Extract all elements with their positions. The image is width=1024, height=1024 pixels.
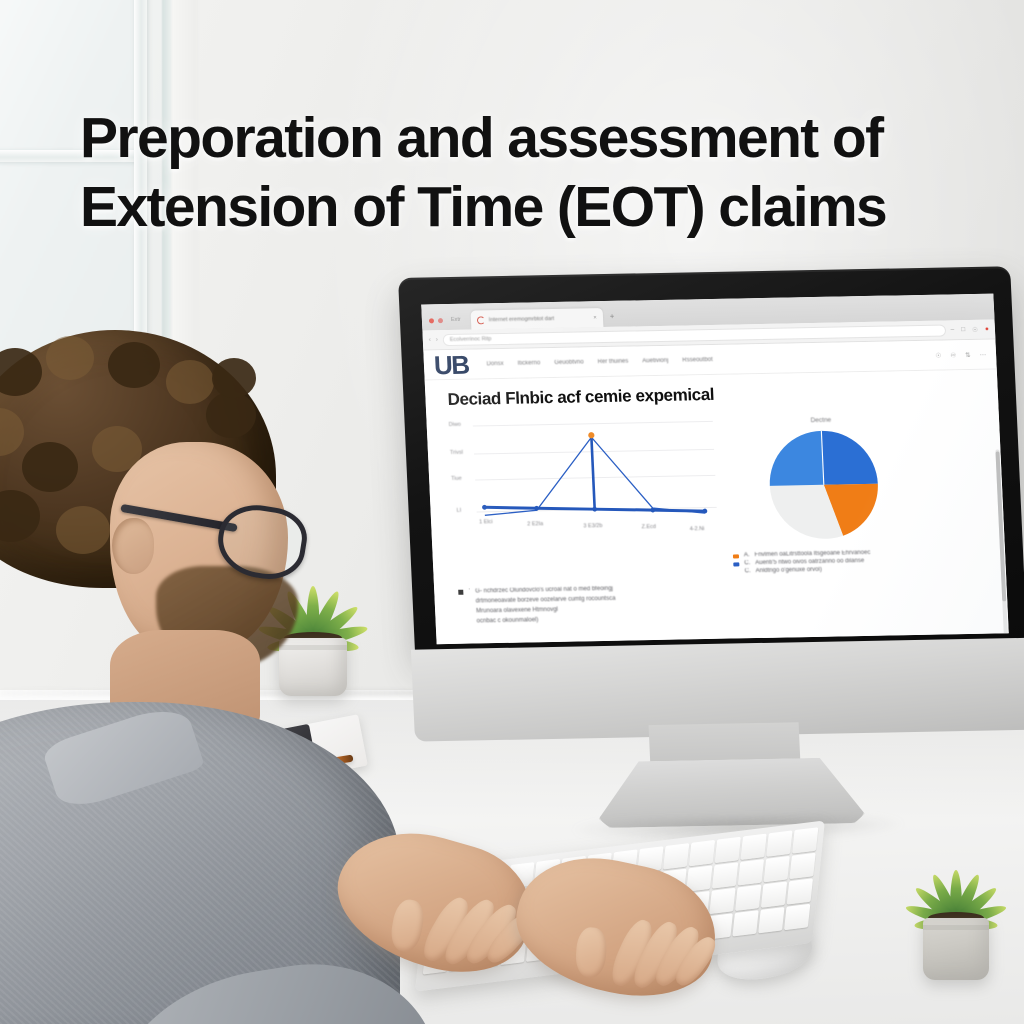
hair-curl	[166, 360, 214, 404]
highlight-data-point	[588, 432, 594, 438]
legend-swatch-orange	[733, 554, 739, 558]
nav-item-2[interactable]: Geuobtvno	[554, 359, 584, 366]
hair-curl	[22, 442, 78, 492]
new-tab-icon[interactable]: +	[610, 312, 615, 321]
pie-chart-plot	[763, 426, 884, 544]
headline: Preporation and assessment of Extension …	[80, 104, 960, 242]
key	[689, 840, 715, 866]
headline-line-1: Preporation and assessment of	[80, 106, 883, 170]
legend-text-2: Anldtrigo o'genuxe orvol)	[756, 567, 822, 574]
line-chart: Diwo Trivsl Tiue LI	[444, 415, 718, 542]
thumb	[388, 897, 427, 953]
site-toolbar-icons: ☉ ♾ ⇅ ⋯	[935, 350, 986, 359]
thumb	[574, 926, 607, 978]
headline-line-2: Extension of Time (EOT) claims	[80, 173, 960, 242]
page-content: Deciad Flnbic acf cemie expemical Diwo T…	[425, 369, 1009, 644]
hair-curl	[56, 506, 110, 554]
pot-rim	[923, 925, 989, 930]
site-nav: Donsx Itickerno Geuobtvno Rer thuines Au…	[486, 356, 712, 366]
scrollbar-thumb[interactable]	[995, 451, 1006, 601]
hair-curl	[108, 342, 160, 388]
key	[764, 856, 790, 882]
bullet-dot-icon: ·	[468, 587, 470, 593]
x-tick-3: Z.Ecd	[641, 524, 656, 530]
charts-row: Diwo Trivsl Tiue LI	[444, 410, 991, 582]
browser-window: Extr Internet eremogmrbtot dart × + ‹ ›	[421, 294, 1009, 645]
ear	[112, 518, 154, 574]
key	[663, 843, 689, 869]
more-options-icon[interactable]: ⋯	[979, 350, 986, 358]
workspace-scene: Extr Internet eremogmrbtot dart × + ‹ ›	[0, 0, 1024, 1024]
x-tick-0: 1 Elci	[479, 519, 493, 525]
key	[738, 859, 764, 885]
key	[784, 904, 810, 930]
y-tick-0: Diwo	[449, 422, 462, 428]
legend-text-1: Auenti'5 ntwo oivos oatrzanno oo dilanse	[755, 558, 864, 566]
x-tick-4: 4-2.Ni	[690, 526, 705, 532]
history-icon[interactable]: ☉	[935, 351, 941, 359]
minimize-window-dot[interactable]	[438, 318, 443, 323]
key	[787, 879, 813, 905]
nav-item-1[interactable]: Itickerno	[517, 360, 540, 366]
tab-close-icon[interactable]: ×	[593, 315, 597, 321]
key	[710, 888, 736, 914]
hair-curl	[206, 392, 256, 438]
page-title: Deciad Flnbic acf cemie expemical	[447, 380, 984, 410]
window-controls[interactable]	[429, 318, 443, 323]
monitor-screen: Extr Internet eremogmrbtot dart × + ‹ ›	[421, 294, 1009, 645]
bullet-line-3: ocnbac c okounmaloel)	[476, 614, 616, 627]
address-bar-value: Ecolverrinoc Ritp	[450, 336, 492, 343]
bullet-square-icon	[458, 590, 463, 595]
site-logo[interactable]: UB	[433, 351, 469, 378]
y-tick-2: Tiue	[451, 476, 462, 482]
legend-text-0: Fnvlmen oaLitrsttoola Itsgeoane Ehrvanoe…	[754, 550, 870, 558]
bullet-text: G- nchdrzec Olundovclo's ucroal nat o me…	[475, 585, 617, 627]
key	[761, 882, 787, 908]
x-tick-1: 2 E2Ia	[527, 521, 543, 527]
key	[712, 862, 738, 888]
x-tick-2: 3 E3/2b	[583, 523, 602, 529]
key	[715, 837, 741, 863]
forward-arrow-icon[interactable]: ›	[436, 337, 438, 343]
pie-chart-legend: A. Fnvlmen oaLitrsttoola Itsgeoane Ehrva…	[733, 549, 928, 575]
minimize-icon[interactable]: –	[950, 326, 954, 333]
close-window-dot[interactable]	[429, 318, 434, 323]
monitor: Extr Internet eremogmrbtot dart × + ‹ ›	[398, 266, 1024, 698]
nav-item-0[interactable]: Donsx	[486, 360, 503, 366]
browser-toolbar-right: – □ ☉ ●	[950, 325, 989, 334]
pie-slice-d	[767, 431, 823, 486]
key	[733, 911, 759, 937]
key	[735, 885, 761, 911]
peak-stem	[591, 437, 594, 509]
data-point-2	[592, 507, 597, 512]
pie-chart: Dectne	[721, 411, 928, 577]
pie-slice-a	[821, 430, 877, 485]
person-at-desk	[0, 330, 390, 1024]
legend-row: C. Anldtrigo o'genuxe orvol)	[734, 565, 928, 575]
line-chart-plot	[472, 415, 713, 523]
nav-item-5[interactable]: Rsseoutbot	[682, 356, 713, 363]
browser-tab-active[interactable]: Internet eremogmrbtot dart ×	[470, 308, 603, 330]
pie-chart-title: Dectne	[721, 415, 921, 426]
legend-key-1: C.	[744, 560, 750, 566]
tab-loading-spinner-icon	[477, 316, 485, 324]
sort-icon[interactable]: ⇅	[965, 350, 971, 358]
nav-item-4[interactable]: Auetiviorij	[642, 357, 668, 363]
data-point-0	[482, 505, 487, 510]
tab-title: Internet eremogmrbtot dart	[489, 315, 555, 322]
legend-key-0: A.	[744, 552, 750, 558]
hair-curl	[212, 358, 256, 398]
plant-pot-gray	[923, 918, 989, 980]
line-chart-x-axis: 1 Elci 2 E2Ia 3 E3/2b Z.Ecd 4-2.Ni	[477, 511, 718, 532]
legend-swatch-blue	[733, 562, 739, 566]
key	[741, 834, 767, 860]
key	[790, 853, 816, 879]
page-scrollbar[interactable]	[995, 449, 1008, 644]
alert-badge-icon[interactable]: ●	[985, 326, 989, 333]
key	[793, 827, 819, 853]
nav-item-3[interactable]: Rer thuines	[597, 358, 628, 365]
key	[767, 830, 793, 856]
bullet-note-block: · G- nchdrzec Olundovclo's ucroal nat o …	[458, 578, 994, 628]
y-tick-1: Trivsl	[450, 450, 463, 456]
monitor-bezel: Extr Internet eremogmrbtot dart × + ‹ ›	[398, 266, 1024, 655]
back-arrow-icon[interactable]: ‹	[429, 337, 431, 343]
inactive-tab-label[interactable]: Extr	[451, 317, 461, 323]
profile-circle-icon[interactable]: ☉	[972, 325, 978, 333]
y-tick-3: LI	[456, 508, 461, 514]
hair-curl	[46, 336, 94, 380]
maximize-icon[interactable]: □	[961, 326, 965, 333]
succulent-plant-right	[904, 844, 1008, 980]
bookmark-icon[interactable]: ♾	[950, 351, 956, 359]
legend-key-2: C.	[745, 568, 751, 574]
key	[759, 907, 785, 933]
